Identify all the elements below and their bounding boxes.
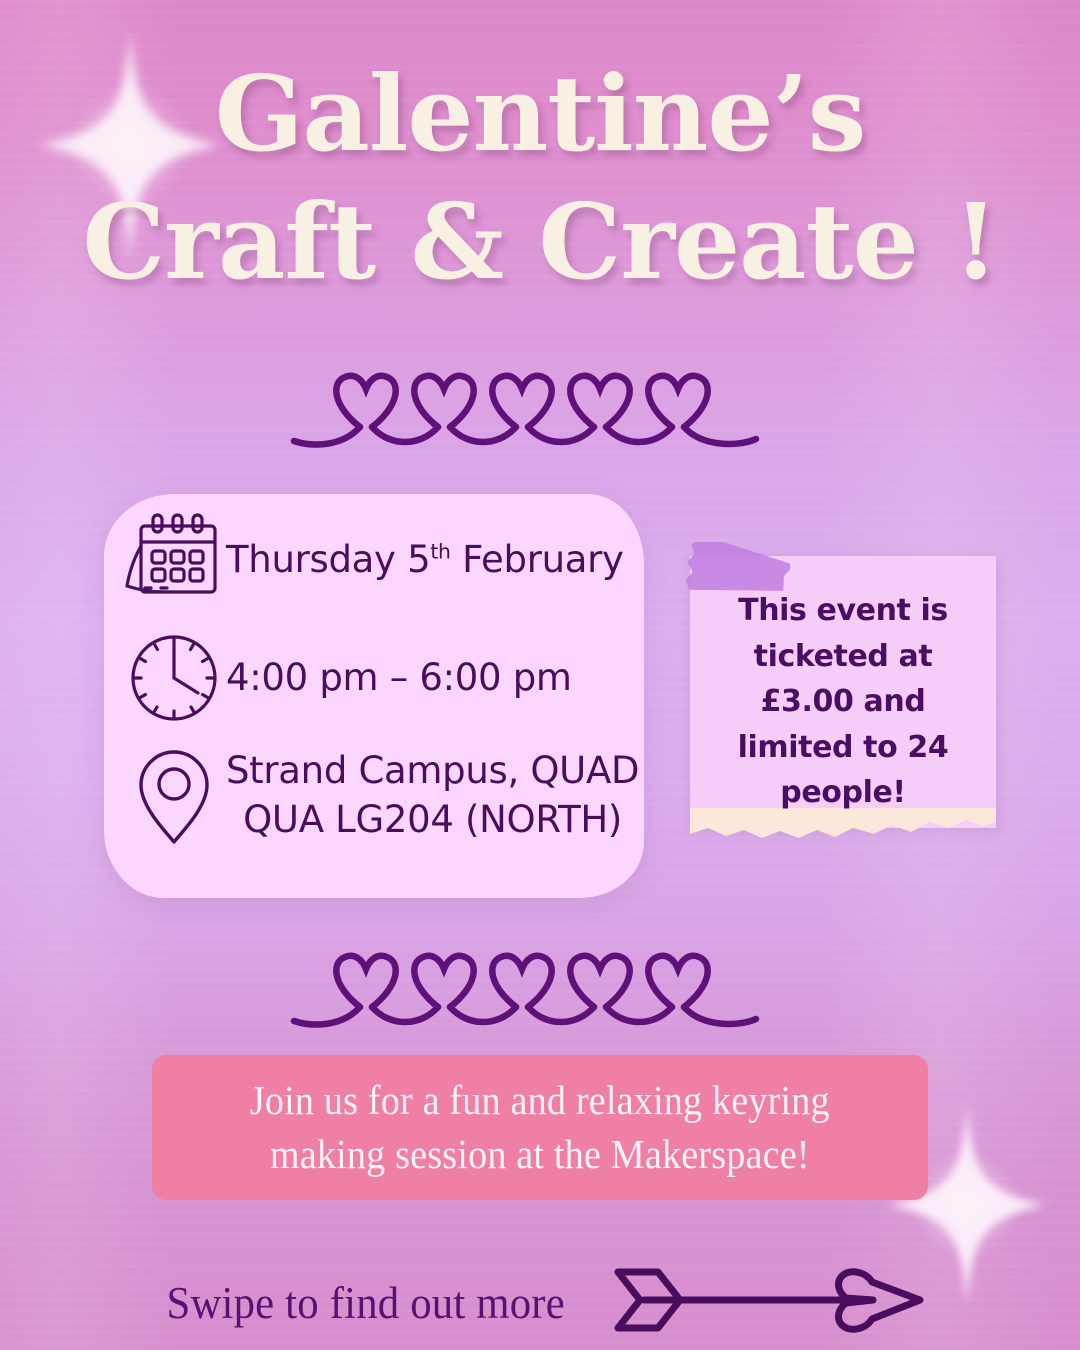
- clock-icon: [122, 630, 226, 726]
- event-time-text: 4:00 pm – 6:00 pm: [226, 654, 572, 703]
- title-line-1: Galentine’s: [0, 62, 1080, 166]
- location-pin-icon: [122, 744, 226, 848]
- swipe-label: Swipe to find out more: [167, 1277, 565, 1329]
- sticky-note-line: This event is: [704, 588, 982, 634]
- event-time-row: 4:00 pm – 6:00 pm: [122, 630, 572, 726]
- event-date-row: Thursday 5th February: [122, 512, 624, 608]
- swipe-prompt[interactable]: Swipe to find out more: [0, 1262, 1080, 1343]
- sticky-note-text: This event is ticketed at £3.00 and limi…: [704, 588, 982, 816]
- event-location-line-1: Strand Campus, QUAD: [226, 747, 639, 796]
- description-text: Join us for a fun and relaxing keyring m…: [250, 1074, 830, 1181]
- description-banner: Join us for a fun and relaxing keyring m…: [152, 1055, 928, 1200]
- heart-divider: [290, 365, 760, 455]
- sticky-note-line: limited to 24: [704, 725, 982, 771]
- event-location-row: Strand Campus, QUAD QUA LG204 (NORTH): [122, 744, 639, 848]
- poster-canvas: Galentine’s Craft & Create !: [0, 0, 1080, 1350]
- sticky-note-line: people!: [704, 770, 982, 816]
- description-line-2: making session at the Makerspace!: [250, 1128, 830, 1181]
- heart-divider: [290, 945, 760, 1035]
- sticky-note-line: ticketed at: [704, 634, 982, 680]
- heart-tipped-arrow-icon: [614, 1262, 924, 1343]
- page-title: Galentine’s Craft & Create !: [0, 62, 1080, 294]
- title-line-2: Craft & Create !: [0, 190, 1080, 294]
- sticky-note-line: £3.00 and: [704, 679, 982, 725]
- ticket-info-sticky-note: This event is ticketed at £3.00 and limi…: [690, 556, 996, 856]
- calendar-icon: [122, 512, 226, 608]
- description-line-1: Join us for a fun and relaxing keyring: [250, 1074, 830, 1127]
- event-location-line-2: QUA LG204 (NORTH): [226, 796, 639, 845]
- event-date-text: Thursday 5th February: [226, 536, 624, 585]
- event-details-card: Thursday 5th February 4:00 pm – 6:00 pm: [104, 494, 644, 898]
